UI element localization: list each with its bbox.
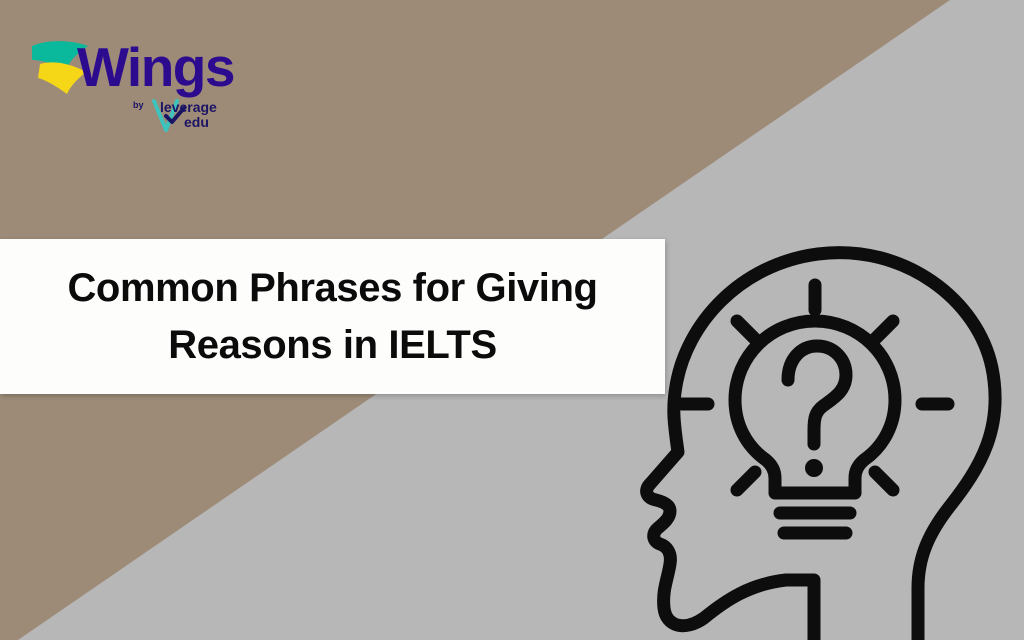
page-title: Common Phrases for Giving Reasons in IEL…	[20, 260, 645, 374]
page-title-line-2: Reasons in IELTS	[168, 323, 496, 367]
ray-bottom-left	[737, 472, 755, 490]
by-label: by	[133, 100, 144, 110]
thumbnail-canvas: Wings by leverage edu Common Phrases for…	[0, 0, 1024, 640]
question-mark-dot	[805, 459, 823, 477]
question-mark-glyph	[788, 346, 846, 444]
ray-top-left	[737, 321, 755, 339]
page-title-line-1: Common Phrases for Giving	[67, 266, 597, 310]
edu-label: edu	[184, 114, 209, 130]
wings-wordmark: Wings	[77, 36, 234, 98]
ray-bottom-right	[875, 472, 893, 490]
bulb-base-lines	[780, 513, 850, 533]
head-with-lightbulb-illustration	[618, 228, 1024, 640]
title-plate: Common Phrases for Giving Reasons in IEL…	[0, 239, 665, 394]
ray-top-right	[875, 321, 893, 339]
wings-by-leverage-edu-logo[interactable]: Wings by leverage edu	[14, 24, 244, 136]
leverage-label: leverage	[160, 99, 217, 115]
